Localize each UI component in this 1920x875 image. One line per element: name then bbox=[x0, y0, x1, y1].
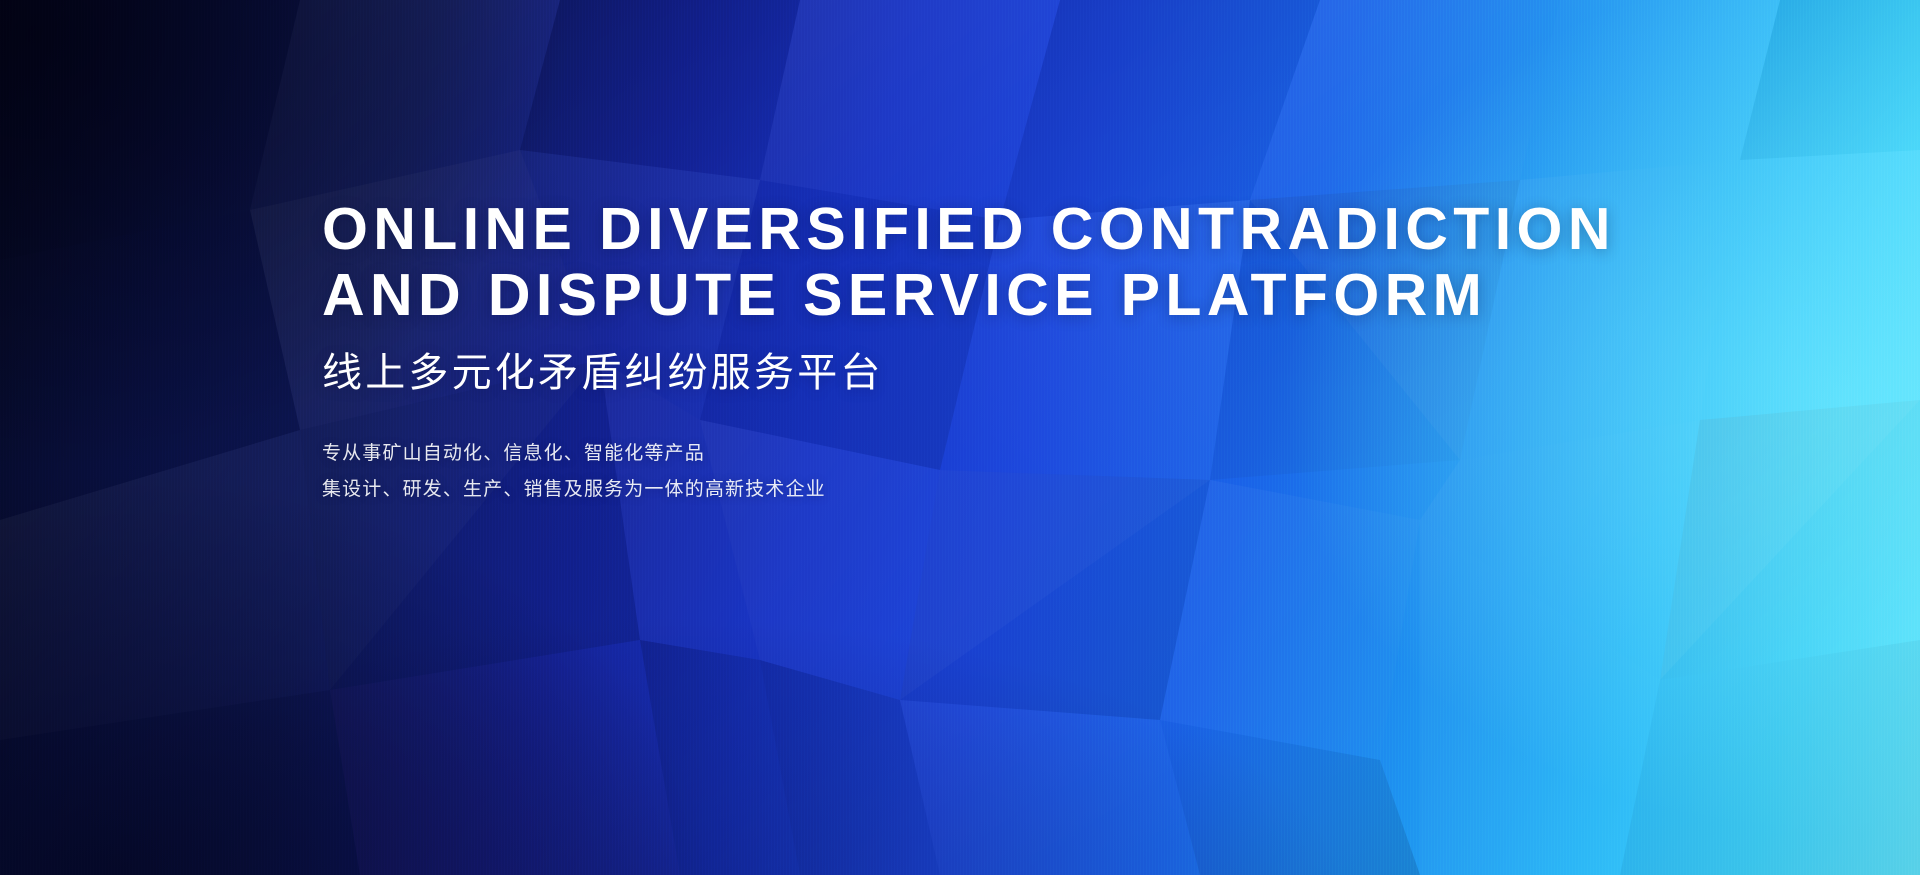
description-line-1: 专从事矿山自动化、信息化、智能化等产品 bbox=[322, 436, 1662, 472]
page-subtitle: 线上多元化矛盾纠纷服务平台 bbox=[322, 349, 1662, 397]
page-title: ONLINE DIVERSIFIED CONTRADICTION AND DIS… bbox=[322, 196, 1662, 328]
headline-line-2: AND DISPUTE SERVICE PLATFORM bbox=[322, 262, 1662, 328]
page-description: 专从事矿山自动化、信息化、智能化等产品 集设计、研发、生产、销售及服务为一体的高… bbox=[322, 436, 1662, 508]
headline-line-1: ONLINE DIVERSIFIED CONTRADICTION bbox=[322, 196, 1662, 262]
hero-banner: ONLINE DIVERSIFIED CONTRADICTION AND DIS… bbox=[0, 0, 1920, 875]
description-line-2: 集设计、研发、生产、销售及服务为一体的高新技术企业 bbox=[322, 472, 1662, 508]
hero-content: ONLINE DIVERSIFIED CONTRADICTION AND DIS… bbox=[322, 196, 1662, 508]
